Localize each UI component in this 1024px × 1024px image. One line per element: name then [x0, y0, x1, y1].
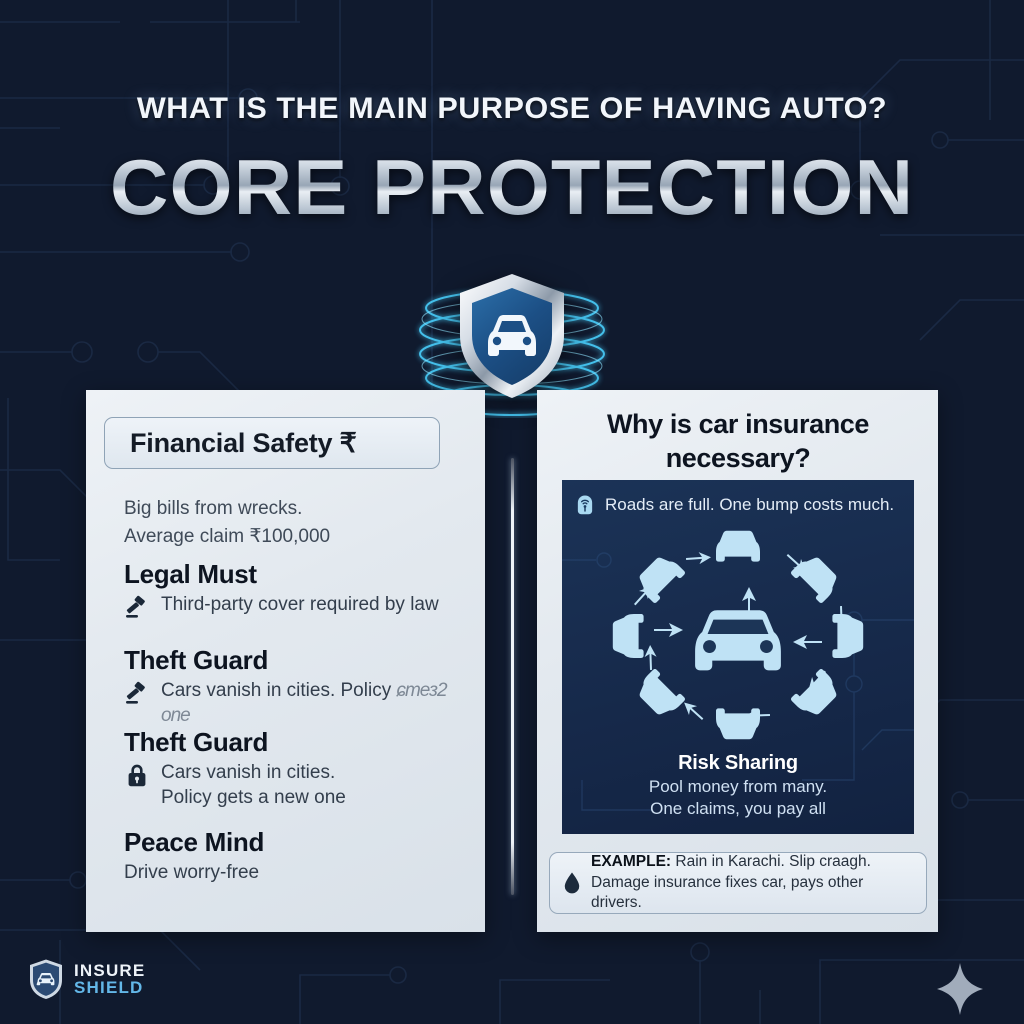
- risk-sharing-line-2: One claims, you pay all: [650, 799, 826, 818]
- example-label: EXAMPLE:: [591, 853, 671, 870]
- right-panel-title-line-2: necessary?: [563, 442, 913, 476]
- benefit-peace-mind: Peace Mind Drive worry-free: [124, 828, 479, 885]
- financial-safety-label: Financial Safety ₹: [130, 428, 357, 459]
- logo-wordmark: INSURE SHIELD: [74, 962, 145, 996]
- benefit-heading: Theft Guard: [124, 728, 479, 757]
- kicker-text: WHAT IS THE MAIN PURPOSE OF HAVING AUTO?: [0, 92, 1024, 126]
- example-line-1: Rain in Karachi. Slip craagh.: [671, 853, 871, 870]
- benefit-heading: Peace Mind: [124, 828, 479, 857]
- gavel-icon: [124, 594, 150, 620]
- risk-sharing-car-ring-diagram: [602, 524, 874, 746]
- vertical-divider: [511, 458, 514, 895]
- risk-sharing-card: Roads are full. One bump costs much.: [562, 480, 914, 834]
- brand-logo: INSURE SHIELD: [28, 958, 145, 1000]
- benefit-body: Drive worry-free: [124, 860, 479, 886]
- infographic-canvas: WHAT IS THE MAIN PURPOSE OF HAVING AUTO?…: [0, 0, 1024, 1024]
- sparkle-icon: [937, 963, 983, 1015]
- gavel-icon: [124, 680, 150, 706]
- right-panel-title-line-1: Why is car insurance: [563, 408, 913, 442]
- header-block: WHAT IS THE MAIN PURPOSE OF HAVING AUTO?…: [0, 92, 1024, 226]
- benefit-theft-guard-2: Theft Guard Cars vanish in cities. Polic…: [124, 728, 479, 811]
- lock-icon: [124, 762, 150, 788]
- card-banner: Roads are full. One bump costs much.: [574, 494, 906, 516]
- card-banner-text: Roads are full. One bump costs much.: [605, 495, 894, 515]
- benefit-body-line-1: Cars vanish in cities.: [161, 762, 335, 783]
- shield-car-icon: [452, 271, 572, 401]
- benefit-body: Cars vanish in cities. Policy: [161, 680, 396, 701]
- shield-car-logo-icon: [28, 958, 64, 1000]
- page-title: CORE PROTECTION: [0, 148, 1024, 226]
- risk-sharing-caption: Risk Sharing Pool money from many. One c…: [562, 752, 914, 821]
- benefit-body-line-2: Policy gets a new one: [161, 787, 346, 808]
- logo-line-1: INSURE: [74, 962, 145, 979]
- logo-line-2: SHIELD: [74, 979, 145, 996]
- lead-line-2: Average claim ₹100,000: [124, 523, 330, 551]
- benefit-heading: Legal Must: [124, 560, 479, 589]
- benefit-body: Third-party cover required by law: [161, 592, 439, 618]
- right-panel-title: Why is car insurance necessary?: [563, 408, 913, 476]
- lead-paragraph: Big bills from wrecks. Average claim ₹10…: [124, 495, 330, 551]
- benefit-theft-guard-1: Theft Guard Cars vanish in cities. Polic…: [124, 646, 479, 729]
- benefit-legal-must: Legal Must Third-party cover required by…: [124, 560, 479, 620]
- water-drop-icon: [562, 871, 582, 895]
- lock-shield-icon: [574, 494, 596, 516]
- lead-line-1: Big bills from wrecks.: [124, 495, 330, 523]
- financial-safety-pill: Financial Safety ₹: [104, 417, 440, 469]
- benefit-heading: Theft Guard: [124, 646, 479, 675]
- example-text: EXAMPLE: Rain in Karachi. Slip craagh. D…: [591, 852, 914, 914]
- left-panel: Financial Safety ₹ Big bills from wrecks…: [86, 390, 485, 932]
- right-panel: Why is car insurance necessary?: [537, 390, 938, 932]
- example-line-2: Damage insurance fixes car, pays other d…: [591, 874, 863, 912]
- example-box: EXAMPLE: Rain in Karachi. Slip craagh. D…: [549, 852, 927, 914]
- risk-sharing-line-1: Pool money from many.: [649, 777, 827, 796]
- risk-sharing-heading: Risk Sharing: [562, 752, 914, 775]
